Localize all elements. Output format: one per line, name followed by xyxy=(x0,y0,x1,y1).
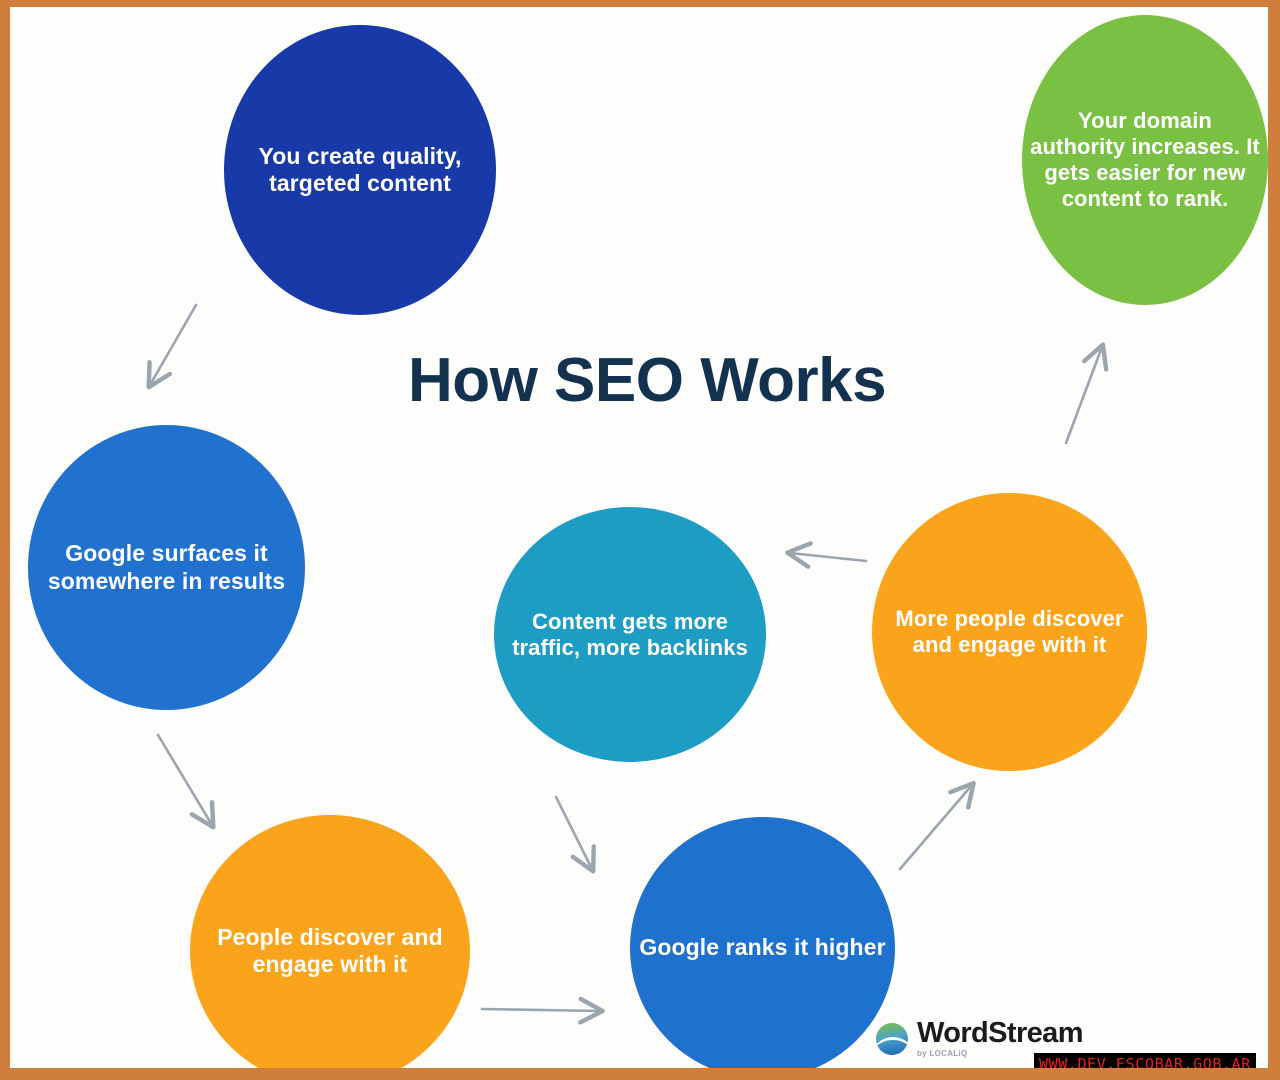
node-people-engage-label: People discover and engage with it xyxy=(196,924,464,978)
page-title: How SEO Works xyxy=(362,345,932,416)
node-content-traffic[interactable]: Content gets more traffic, more backlink… xyxy=(494,507,766,762)
node-more-people-engage[interactable]: More people discover and engage with it xyxy=(872,493,1147,771)
node-google-ranks-label: Google ranks it higher xyxy=(636,934,889,961)
node-create-content-label: You create quality, targeted content xyxy=(230,143,490,197)
node-domain-authority-label: Your domain authority increases. It gets… xyxy=(1028,108,1262,212)
image-frame: You create quality, targeted content You… xyxy=(0,0,1280,1080)
node-people-engage[interactable]: People discover and engage with it xyxy=(190,815,470,1080)
arrow-ranks-to-morepeople xyxy=(900,785,972,869)
arrow-traffic-to-ranks xyxy=(556,797,592,869)
node-google-surfaces-label: Google surfaces it somewhere in results xyxy=(34,540,299,594)
infographic-canvas: You create quality, targeted content You… xyxy=(10,7,1268,1068)
site-watermark: WWW.DEV.ESCOBAR.GOB.AR xyxy=(1034,1053,1256,1076)
node-domain-authority[interactable]: Your domain authority increases. It gets… xyxy=(1022,15,1268,305)
arrow-people-to-ranks xyxy=(482,1009,600,1011)
node-google-surfaces[interactable]: Google surfaces it somewhere in results xyxy=(28,425,305,710)
arrow-morepeople-to-domain xyxy=(1066,347,1102,443)
arrow-create-to-surfaces xyxy=(150,305,196,385)
node-create-content[interactable]: You create quality, targeted content xyxy=(224,25,496,315)
node-google-ranks[interactable]: Google ranks it higher xyxy=(630,817,895,1079)
wordstream-name: WordStream xyxy=(917,1019,1083,1048)
wordstream-globe-icon xyxy=(876,1023,908,1055)
node-more-people-engage-label: More people discover and engage with it xyxy=(878,606,1141,658)
arrow-surfaces-to-people xyxy=(158,735,212,825)
node-content-traffic-label: Content gets more traffic, more backlink… xyxy=(500,609,760,661)
arrow-morepeople-to-traffic xyxy=(790,553,866,561)
